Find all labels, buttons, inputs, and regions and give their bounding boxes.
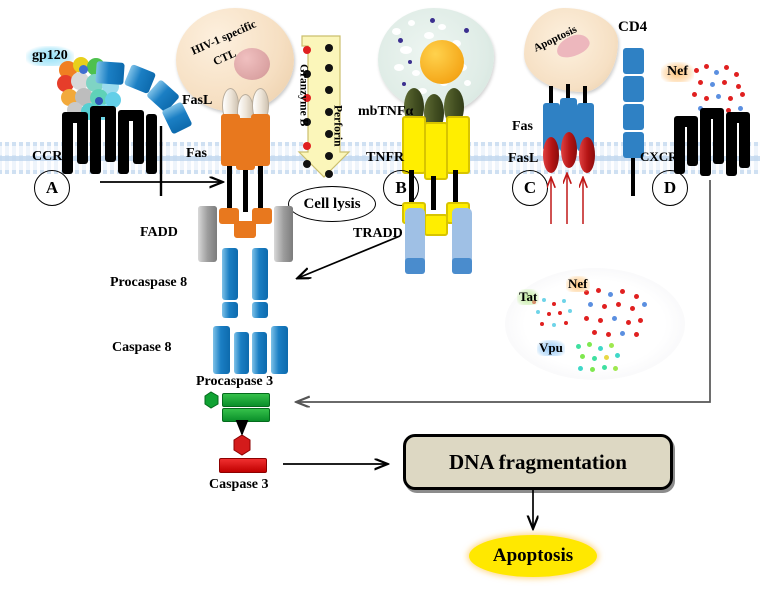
cd4-stalk [631,158,635,196]
dna-fragmentation-box: DNA fragmentation [403,434,673,490]
vpu-label: Vpu [537,340,565,356]
fadd-right-cap [274,206,293,219]
fadd-label: FADD [140,226,178,240]
tnfr-receptor-2 [424,122,448,180]
caspase3-prodomain [234,435,250,455]
ccr5-receptor [62,104,162,174]
procaspase3-prodomain [205,392,218,408]
pathway-figure: gp120 CCR5 A [0,0,760,598]
procaspase8-subunit-2 [252,248,268,300]
tnfr-stalk-2 [431,176,436,210]
caspase3-label: Caspase 3 [209,478,269,492]
caspase8-subunit-2 [234,332,249,374]
tnfr-death-domain-3 [424,214,448,236]
fasl-c-ligand-1 [543,137,559,173]
granzyme-b-label: Granzyme B [297,64,309,126]
cd4-receptor-domain-1 [623,48,644,74]
apoptosis-outcome-badge: Apoptosis [469,535,597,577]
nef-viral-label: Nef [566,276,590,292]
procaspase8-prodomain-1 [222,302,238,318]
tradd-right-foot [452,258,472,274]
fadd-left-cap [198,206,217,219]
tradd-right-domain [452,208,472,264]
caspase8-subunit-3 [252,332,267,374]
fas-stalk-1 [227,166,232,212]
cd4-domain-1 [95,61,124,85]
caspase3-subunit [219,458,267,473]
ccr5-label: CCR5 [32,150,69,164]
fas-c-stalk-3 [583,86,587,104]
procaspase8-subunit-1 [222,248,238,300]
cxcr4-receptor [674,104,760,176]
tnfr-receptor-3 [446,116,470,174]
fas-receptor-3 [251,114,270,166]
panel-letter-c: C [512,170,548,206]
procaspase8-label: Procaspase 8 [110,276,187,290]
tradd-left-domain [405,208,425,264]
tradd-label: TRADD [353,227,403,241]
cd4-receptor-domain-2 [623,76,644,102]
tat-label: Tat [517,289,539,305]
procaspase8-prodomain-2 [252,302,268,318]
fasl-c-label: FasL [508,152,538,166]
caspase8-label: Caspase 8 [112,341,172,355]
nef-viral-protein-structure [580,286,652,348]
panel-letter-d: D [652,170,688,206]
tradd-left-foot [405,258,425,274]
fasl-c-ligand-3 [579,137,595,173]
caspase8-subunit-4 [271,326,288,374]
procaspase3-label: Procaspase 3 [196,375,273,389]
fas-stalk-3 [258,166,263,212]
vpu-protein-structure [572,340,626,378]
fas-c-label: Fas [512,120,533,134]
tnfr-label: TNFR [366,151,404,165]
tnfr-stalk-3 [453,170,458,204]
fasl-label: FasL [182,94,212,108]
cd4-receptor-domain-3 [623,104,644,130]
arrow-tradd-to-procaspase8 [298,236,400,278]
fadd-right-ded [274,246,293,262]
tnfr-stalk-1 [409,170,414,204]
macrophage-nucleus [420,40,464,84]
ctl-nucleus [234,48,270,80]
fas-label: Fas [186,147,207,161]
fas-c-stalk-1 [549,86,553,104]
cell-lysis-label: Cell lysis [288,186,376,222]
fadd-left-ded [198,246,217,262]
procaspase3-small-subunit [222,408,270,422]
panel-letter-a: A [34,170,70,206]
cxcr4-label: CXCR4 [640,150,684,163]
perforin-label: Perforin [331,105,343,147]
fas-death-domain-3 [234,221,256,238]
procaspase3-large-subunit [222,393,270,407]
tnfr-receptor-1 [402,116,426,174]
fas-stalk-2 [243,170,248,212]
caspase8-subunit-1 [213,326,230,374]
fasl-c-ligand-2 [561,132,577,168]
cd4-label: CD4 [618,20,647,35]
